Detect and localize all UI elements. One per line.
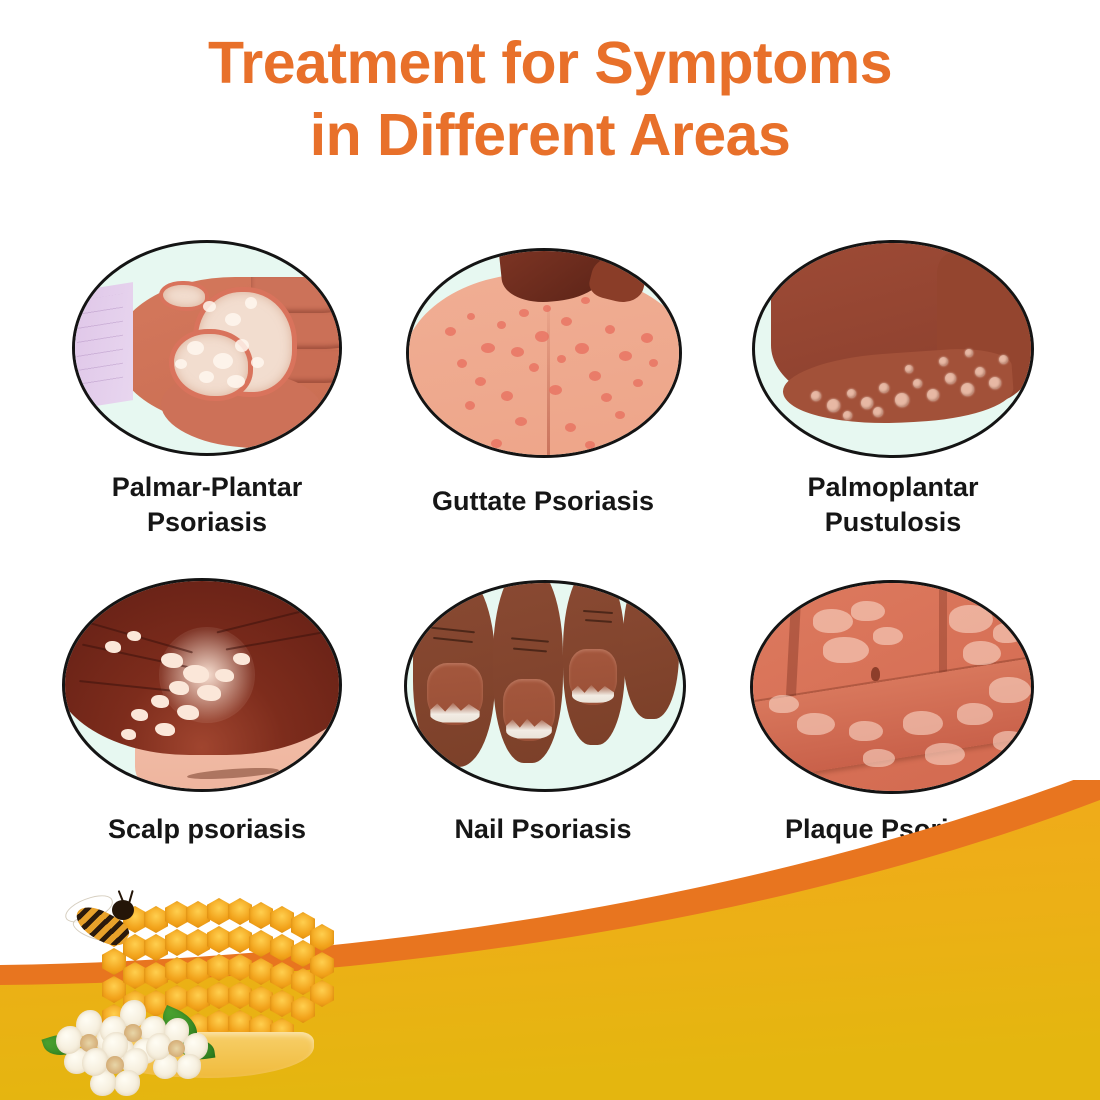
symptom-card-caption: Palmar-Plantar Psoriasis bbox=[42, 470, 372, 539]
flowers-icon bbox=[40, 994, 230, 1090]
illustration-toes-with-nails bbox=[404, 580, 686, 792]
honeycomb-illustration bbox=[40, 890, 360, 1090]
illustration-skin-plaques bbox=[750, 580, 1034, 794]
illustration-scalp-with-flakes bbox=[62, 578, 342, 792]
bee-icon bbox=[58, 892, 154, 954]
illustration-foot-with-pustules bbox=[752, 240, 1034, 458]
symptom-card-caption: Palmoplantar Pustulosis bbox=[718, 470, 1068, 539]
symptom-card-caption: Guttate Psoriasis bbox=[378, 484, 708, 519]
infographic-page: Treatment for Symptoms in Different Area… bbox=[0, 0, 1100, 1100]
illustration-back-with-spots bbox=[406, 248, 682, 458]
illustration-hand-with-plaque bbox=[72, 240, 342, 456]
